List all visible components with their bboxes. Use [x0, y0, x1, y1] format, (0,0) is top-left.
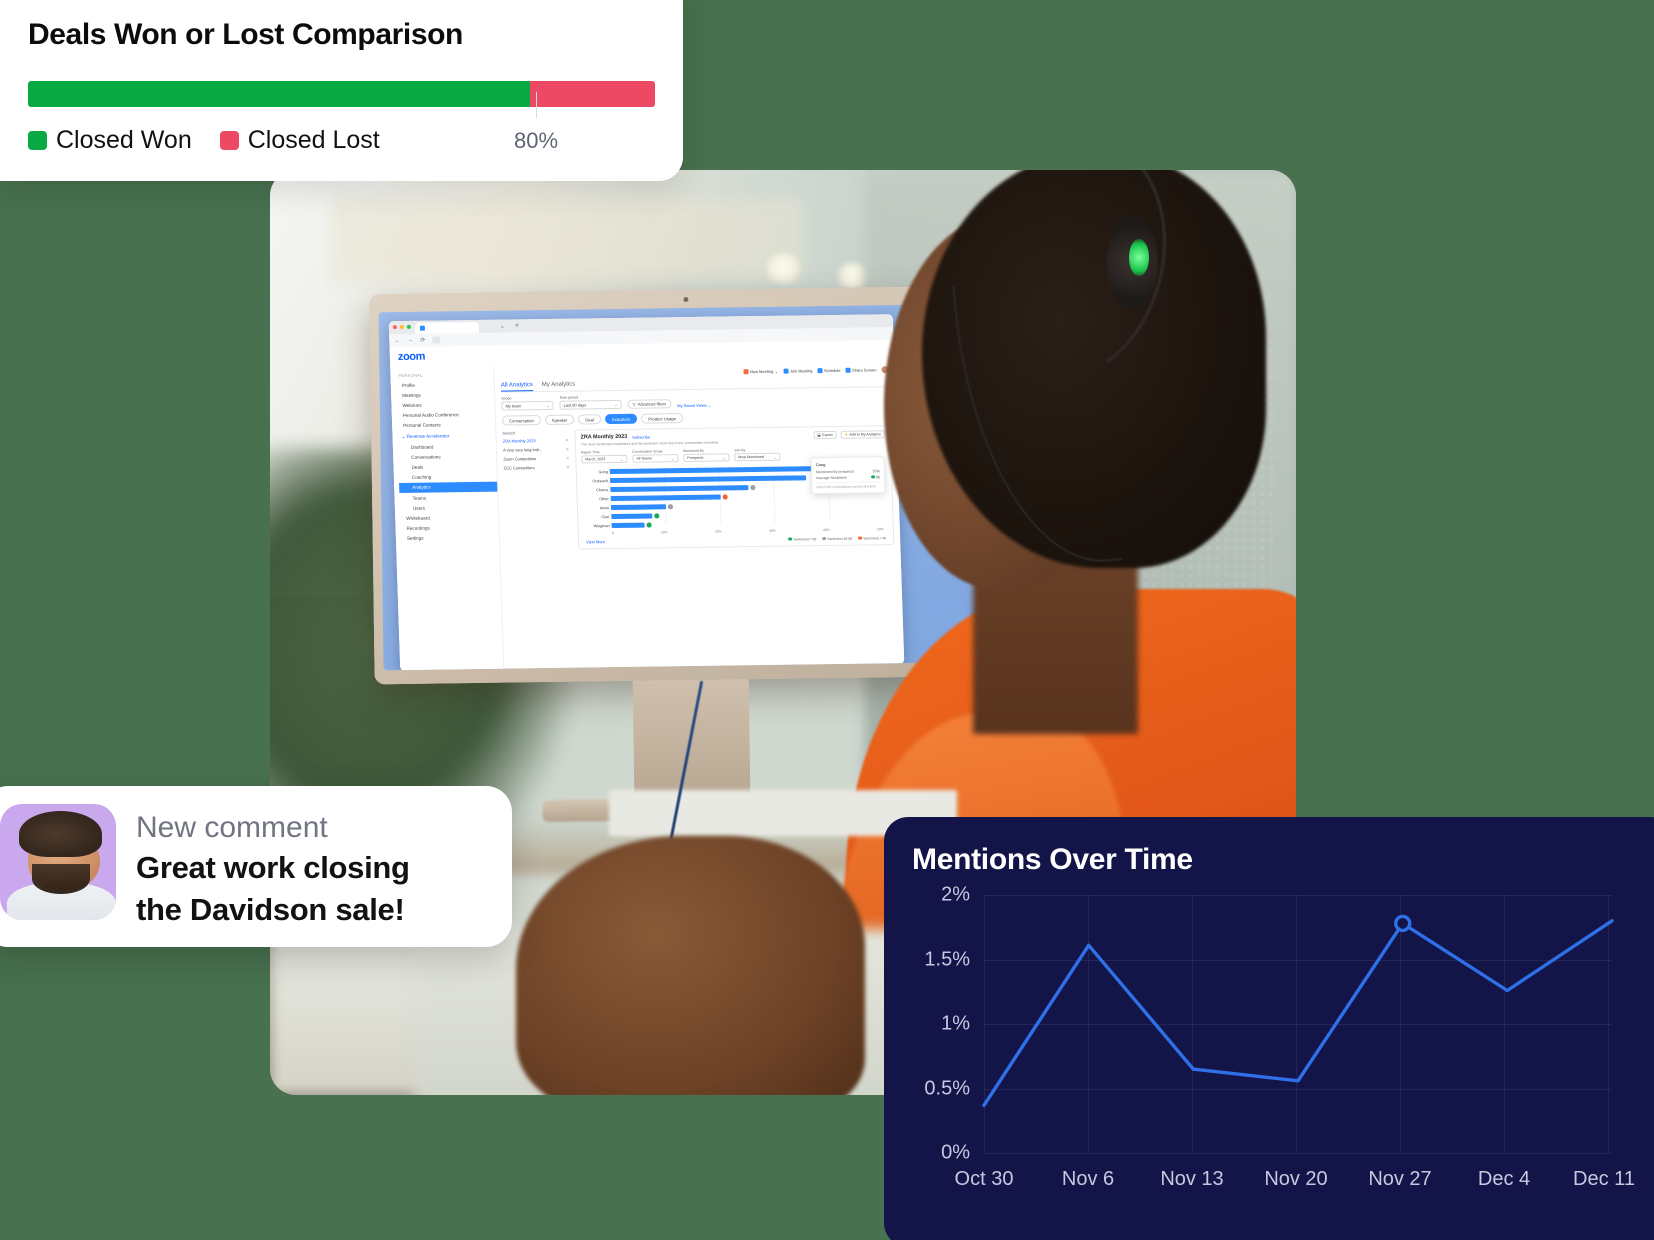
address-bar[interactable]: [432, 336, 440, 343]
comment-body-line-2: the Davidson sale!: [136, 890, 410, 930]
x-tick: 40%: [823, 528, 830, 532]
bar-fill: [611, 523, 644, 528]
close-icon[interactable]: ✕: [565, 438, 569, 443]
mentions-line-series: [984, 895, 1612, 1153]
bar-label: Chorus: [582, 488, 608, 492]
calendar-icon: [817, 368, 822, 373]
legend-swatch-red-icon: [220, 131, 239, 150]
schedule-button[interactable]: Schedule: [817, 367, 840, 372]
search-item-zra-monthly[interactable]: ZRA Monthly 2023✕: [503, 438, 569, 444]
advanced-filters-button[interactable]: ▽ Advanced filters: [627, 399, 671, 409]
x-tick: 30%: [769, 529, 776, 533]
new-tab-icon[interactable]: +: [515, 322, 519, 329]
mentioned-by-select[interactable]: Prospects⌄: [683, 453, 729, 462]
sentiment-neutral-icon: [668, 504, 673, 509]
y-tick: 1%: [912, 1013, 970, 1036]
plus-icon: [783, 368, 788, 373]
x-tick: Nov 13: [1160, 1168, 1223, 1191]
bar-segment-closed-won: [28, 81, 530, 107]
chart-tooltip: Gong Mentioned by prospects 57% Average …: [810, 456, 885, 494]
chevron-down-icon: ⌄: [722, 455, 726, 460]
conversation-scope-value: All Teams: [636, 456, 652, 460]
avatar[interactable]: [881, 366, 888, 373]
sentiment-legend: Sentiment > 60 Sentiment 40-60: [788, 536, 886, 541]
sort-by-filter: Sort By Most Mentioned⌄: [734, 448, 780, 462]
chip-deal[interactable]: Deal: [578, 414, 601, 424]
reload-icon[interactable]: ⟳: [420, 337, 425, 344]
new-comment-card[interactable]: New comment Great work closing the David…: [0, 786, 512, 947]
chevron-down-icon: ⌄: [671, 456, 675, 461]
analytics-content: Search ZRA Monthly 2023✕ A very very lon…: [502, 425, 894, 550]
search-label: Search: [502, 430, 568, 436]
tooltip-footer: Out of 200 conversations across all team…: [816, 481, 880, 490]
filter-icon: ▽: [632, 402, 635, 407]
zoom-favicon-icon: [420, 326, 425, 331]
window-controls[interactable]: [393, 325, 411, 329]
y-tick: 1.5%: [912, 948, 970, 971]
close-icon[interactable]: ✕: [566, 456, 570, 461]
bar-label: Gong: [582, 470, 608, 474]
chip-conversation[interactable]: Conversation: [502, 415, 541, 426]
sentiment-positive-icon: [647, 523, 652, 528]
sentiment-neutral-icon: [822, 537, 826, 541]
search-item-zoom-competitors[interactable]: Zoom Competitors✕: [503, 456, 569, 462]
deals-legend: Closed Won Closed Lost 80%: [28, 126, 655, 155]
browser-tab[interactable]: [415, 322, 479, 334]
bar-segment-closed-lost: [530, 81, 655, 107]
sentiment-negative-icon: [858, 536, 862, 540]
bar-fill: [610, 485, 748, 492]
legend-item-closed-lost: Closed Lost: [220, 126, 380, 155]
forward-icon[interactable]: →: [407, 337, 413, 343]
x-tick: 0: [612, 531, 614, 535]
mentioned-by-value: Prospects: [687, 456, 703, 460]
bar-label: Clari: [583, 515, 609, 519]
chevron-down-icon: ⌄: [614, 402, 618, 407]
x-tick: Dec 4: [1478, 1168, 1530, 1191]
export-icon: ⬓: [817, 433, 821, 437]
report-time-label: Report Time: [581, 450, 627, 455]
close-icon[interactable]: ✕: [566, 447, 570, 452]
x-tick: Dec 11: [1573, 1168, 1635, 1191]
sidebar-item-settings[interactable]: Settings: [401, 532, 499, 544]
minimize-icon[interactable]: [400, 325, 404, 329]
search-item-zcc-competitors[interactable]: ZCC Competitors✕: [504, 465, 570, 471]
sentiment-neutral-icon: [750, 485, 755, 490]
mentions-over-time-card: Mentions Over Time 2% 1.5% 1% 0.5% 0%: [884, 817, 1654, 1240]
video-icon: [743, 369, 748, 374]
scope-value: My team: [505, 403, 521, 408]
x-tick: Nov 6: [1062, 1168, 1114, 1191]
report-actions: ⬓ Export ★ Add to My Analytics: [813, 430, 885, 439]
mentioned-by-label: Mentioned By: [683, 448, 729, 453]
sidebar-group-label: Revenue Accelerator: [407, 433, 450, 439]
sentiment-positive-icon: [788, 537, 792, 541]
report-time-value: March, 2023: [585, 457, 605, 461]
x-tick: 50%: [877, 527, 884, 531]
maximize-icon[interactable]: [407, 325, 411, 329]
sentiment-positive-icon: [655, 514, 660, 519]
chip-indicators[interactable]: Indicators: [605, 414, 637, 424]
bar-label: Aviso: [583, 506, 609, 510]
report-title: ZRA Monthly 2023: [581, 434, 628, 441]
report-footer: View More Sentiment > 60: [584, 535, 888, 544]
my-saved-views-link[interactable]: My Saved Views ⌄: [677, 403, 711, 408]
chevron-down-icon[interactable]: ⌄: [775, 368, 779, 373]
x-tick: 10%: [661, 530, 668, 534]
monitor-screen: × + ← → ⟳ zoom PE: [379, 304, 998, 671]
export-button[interactable]: ⬓ Export: [813, 431, 837, 439]
back-icon[interactable]: ←: [394, 338, 400, 344]
close-icon[interactable]: ✕: [566, 465, 570, 470]
sort-by-value: Most Mentioned: [738, 455, 764, 459]
person-hand: [516, 836, 865, 1095]
tooltip-row: Average Sentiment 65: [816, 475, 880, 480]
star-icon: ★: [845, 433, 848, 437]
chip-product-usage[interactable]: Product Usage: [641, 413, 683, 424]
x-tick: 20%: [715, 529, 722, 533]
search-item-long[interactable]: A very very long indi...✕: [503, 447, 569, 453]
bar-label: Wingman: [584, 524, 610, 528]
time-period-select[interactable]: Last 90 days ⌄: [559, 400, 621, 410]
bar-fill: [611, 504, 666, 510]
comment-heading: New comment: [136, 810, 410, 846]
sort-by-label: Sort By: [734, 448, 780, 453]
photo-perforated-panel: [988, 337, 1275, 800]
y-tick: 0.5%: [912, 1077, 970, 1100]
chart-title: Mentions Over Time: [912, 843, 1654, 877]
legend-item: Sentiment > 60: [788, 537, 816, 541]
highlighted-data-point[interactable]: [1396, 916, 1410, 930]
scope-select[interactable]: My team ⌄: [501, 401, 553, 411]
gridline-h: [984, 1153, 1612, 1154]
analytics-tabs: All Analytics My Analytics: [501, 377, 889, 392]
sentiment-positive-icon: [871, 475, 875, 479]
bar-fill: [611, 513, 653, 519]
x-tick: Nov 20: [1264, 1168, 1327, 1191]
add-to-my-analytics-button[interactable]: ★ Add to My Analytics: [840, 430, 884, 439]
deals-comparison-card: Deals Won or Lost Comparison Closed Won …: [0, 0, 683, 181]
share-screen-button[interactable]: Share Screen: [845, 367, 876, 372]
desktop-monitor: × + ← → ⟳ zoom PE: [369, 286, 1006, 685]
conversation-scope-select[interactable]: All Teams⌄: [632, 454, 678, 463]
chevron-down-icon: ⌄: [620, 456, 624, 461]
bar-divider-tick: [536, 92, 537, 118]
page-title: Deals Won or Lost Comparison: [28, 18, 655, 52]
report-time-filter: Report Time March, 2023⌄: [581, 450, 627, 464]
monitor-webcam: [683, 297, 688, 302]
search-column: Search ZRA Monthly 2023✕ A very very lon…: [502, 430, 572, 551]
scope-filter: Scope My team ⌄: [501, 396, 553, 411]
zoom-sidebar: PERSONAL Profile Meetings Webinars Perso…: [390, 366, 504, 671]
time-period-value: Last 90 days: [563, 402, 586, 407]
tooltip-row: Mentioned by prospects 57%: [816, 469, 880, 474]
zoom-logo[interactable]: zoom: [398, 351, 426, 363]
legend-item: Sentiment < 40: [858, 536, 886, 540]
bar-label: Outreach: [582, 479, 608, 483]
bar-label: Other: [583, 497, 609, 501]
x-tick: Oct 30: [955, 1168, 1014, 1191]
legend-item-closed-won: Closed Won: [28, 126, 192, 155]
percent-label: 80%: [514, 128, 558, 154]
chip-speaker[interactable]: Speaker: [545, 415, 575, 425]
zoom-main: New Meeting ⌄ Join Meeting Schedule: [494, 360, 904, 669]
zoom-body: PERSONAL Profile Meetings Webinars Perso…: [390, 360, 904, 670]
tab-all-analytics[interactable]: All Analytics: [501, 382, 533, 391]
close-icon[interactable]: [393, 325, 397, 329]
plot-area: [984, 895, 1612, 1153]
x-tick: Nov 27: [1368, 1168, 1431, 1191]
avatar: [0, 804, 116, 920]
comment-body-line-1: Great work closing: [136, 848, 410, 888]
bar-fill: [611, 495, 722, 502]
analytics-category-chips: Conversation Speaker Deal Indicators Pro…: [502, 410, 890, 425]
mentions-chart: 2% 1.5% 1% 0.5% 0%: [912, 895, 1612, 1195]
sort-by-select[interactable]: Most Mentioned⌄: [734, 453, 780, 462]
tooltip-title: Gong: [816, 461, 880, 467]
browser-window: × + ← → ⟳ zoom PE: [389, 314, 905, 670]
new-meeting-button[interactable]: New Meeting ⌄: [743, 368, 778, 373]
legend-label: Closed Won: [56, 126, 192, 155]
tab-close-icon[interactable]: ×: [501, 325, 504, 331]
conversation-scope-label: Conversation Scope: [632, 449, 678, 454]
chevron-down-icon: ⌄: [773, 454, 777, 459]
join-meeting-button[interactable]: Join Meeting: [783, 368, 812, 373]
conversation-scope-filter: Conversation Scope All Teams⌄: [632, 449, 678, 463]
subscribe-link[interactable]: Subscribe: [632, 434, 650, 439]
time-period-filter: Time period Last 90 days ⌄: [559, 395, 621, 410]
y-tick: 2%: [912, 884, 970, 907]
report-time-select[interactable]: March, 2023⌄: [581, 455, 627, 464]
scope-label: Scope: [501, 396, 553, 401]
share-icon: [845, 367, 850, 372]
view-more-link[interactable]: View More: [586, 539, 605, 544]
page-root: × + ← → ⟳ zoom PE: [0, 0, 1654, 1240]
legend-swatch-green-icon: [28, 131, 47, 150]
y-tick: 0%: [912, 1142, 970, 1165]
mentioned-by-filter: Mentioned By Prospects⌄: [683, 448, 729, 462]
deals-stacked-bar: [28, 81, 655, 107]
ceiling-panel: [332, 198, 804, 281]
avatar-hair: [19, 811, 103, 857]
tab-my-analytics[interactable]: My Analytics: [542, 382, 576, 391]
report-card: ZRA Monthly 2023 Subscribe ⬓ Export: [574, 425, 894, 549]
legend-label: Closed Lost: [248, 126, 380, 155]
comment-text: New comment Great work closing the David…: [136, 804, 410, 929]
sentiment-negative-icon: [723, 495, 728, 500]
legend-item: Sentiment 40-60: [822, 536, 852, 540]
chevron-down-icon: ⌄: [546, 403, 550, 408]
analytics-filters: Scope My team ⌄ Time period Las: [501, 391, 889, 410]
